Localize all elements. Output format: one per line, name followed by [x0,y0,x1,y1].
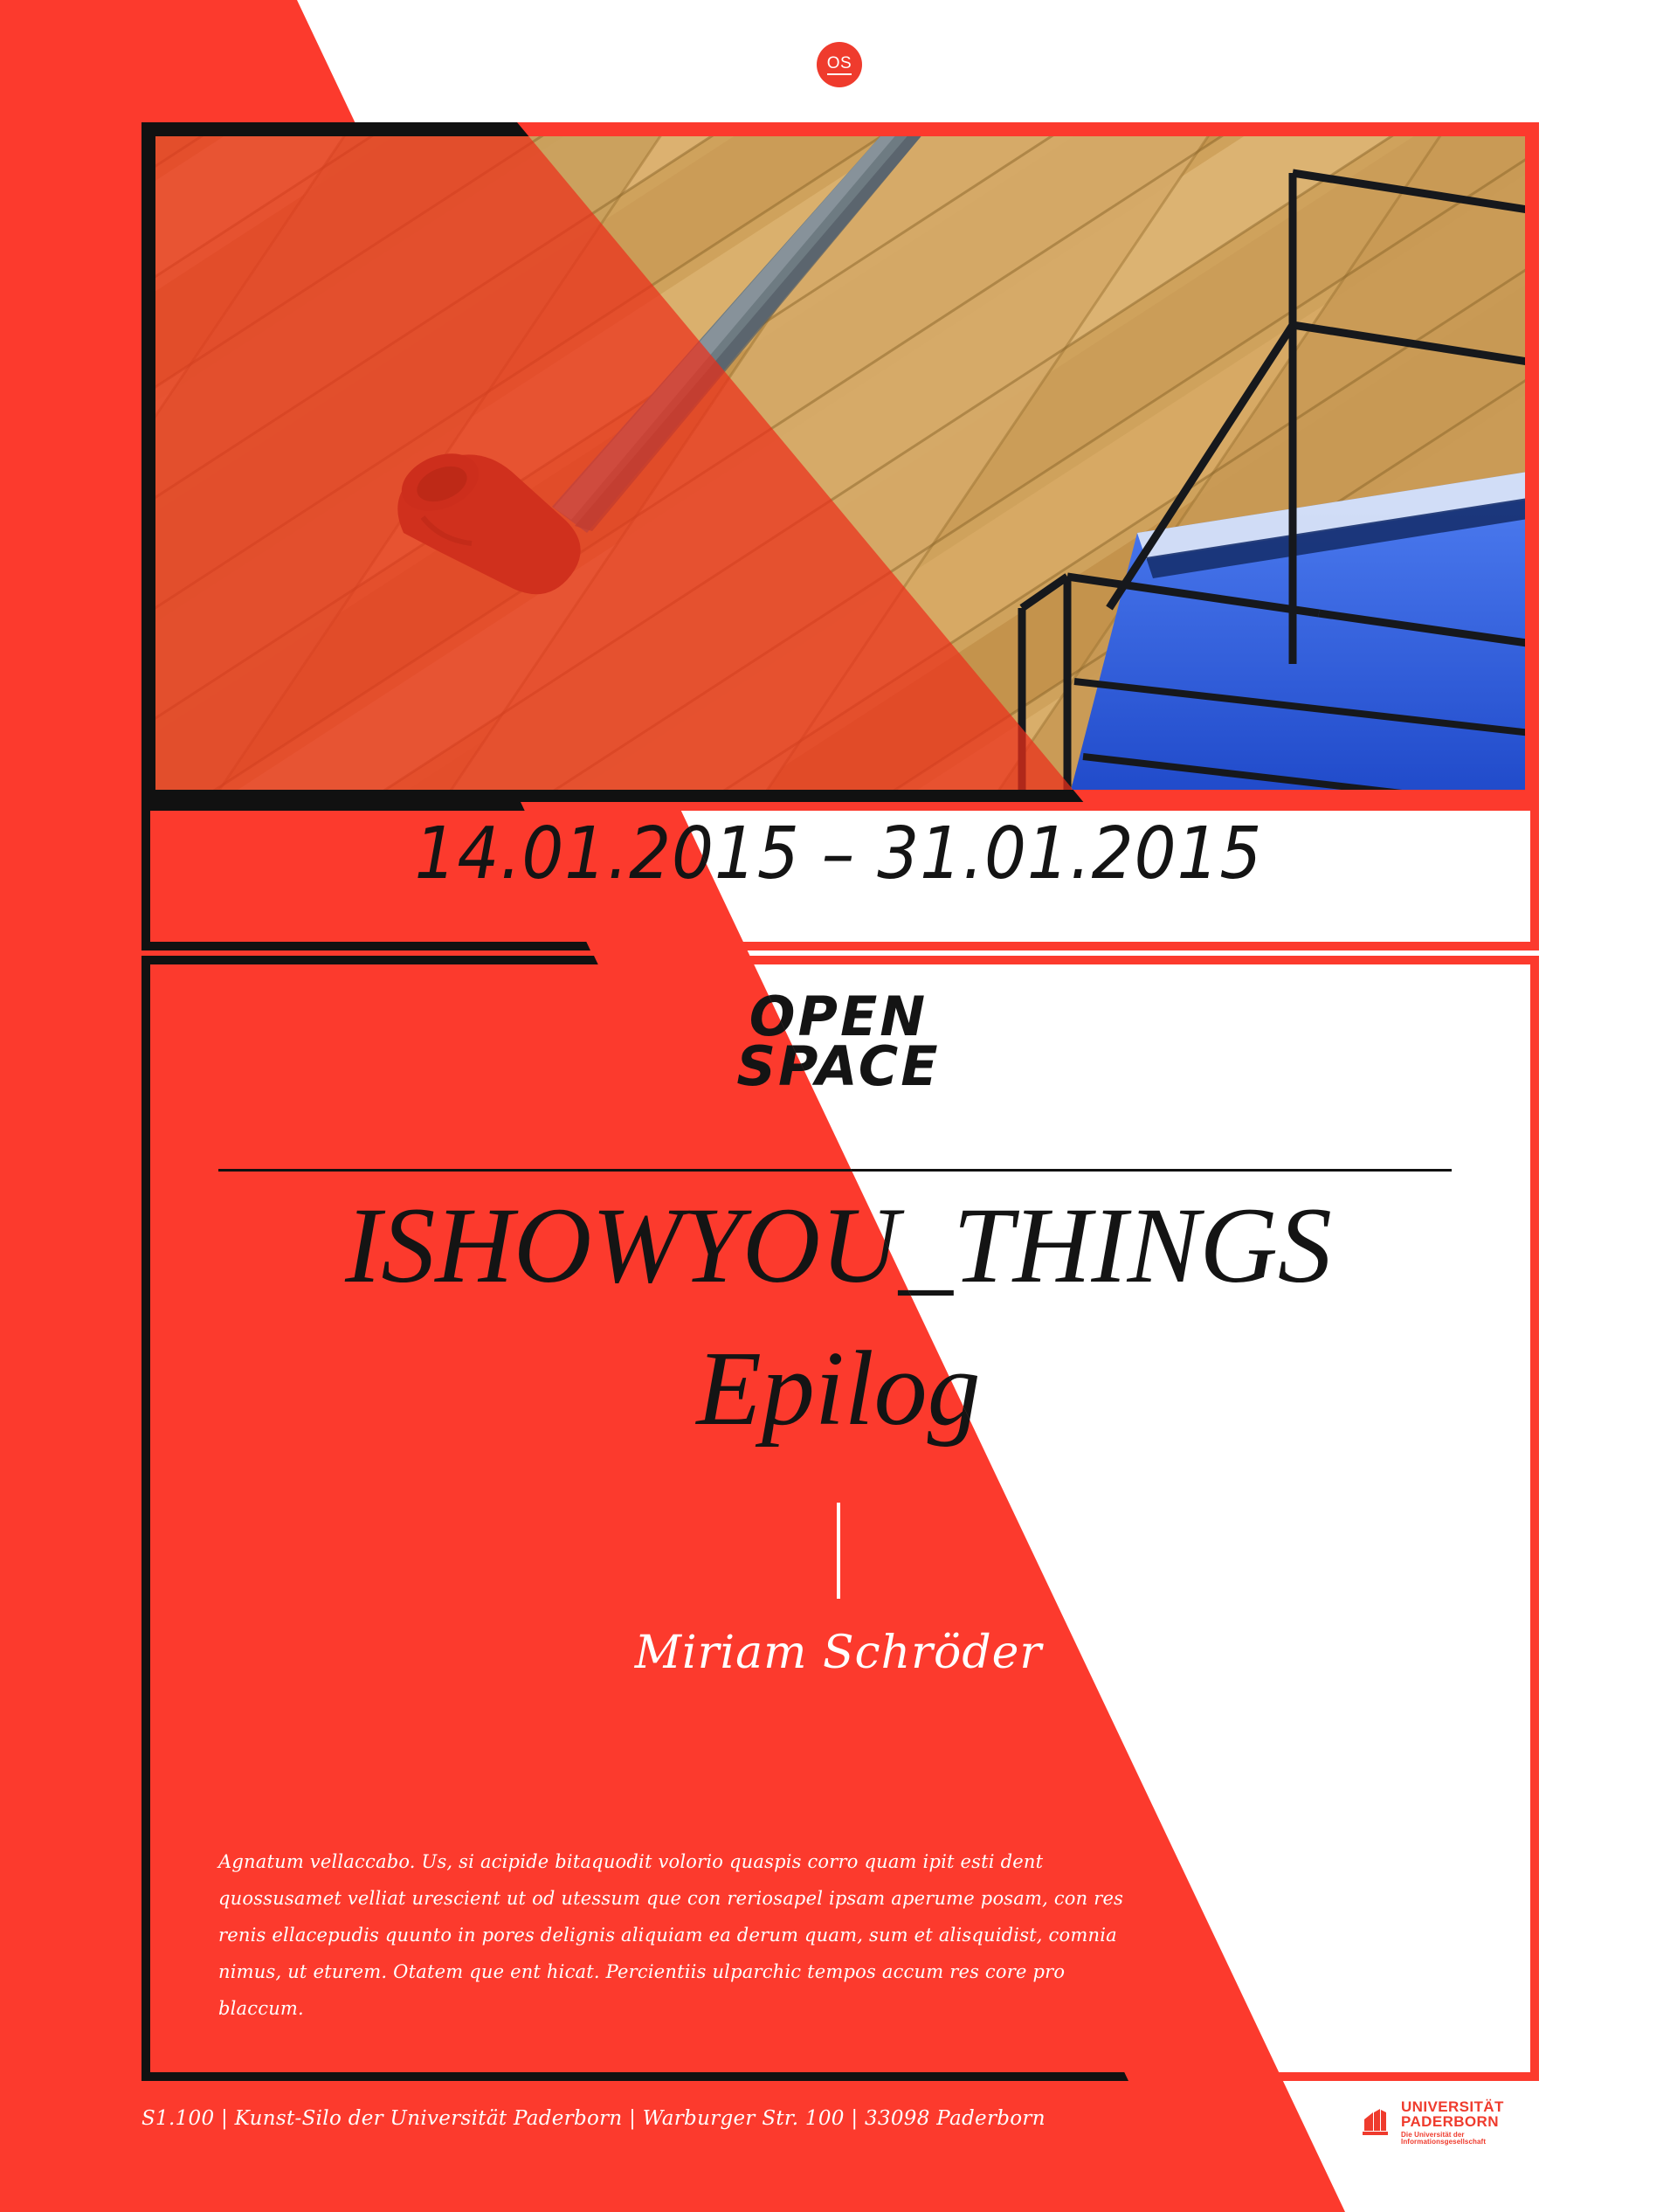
hero-photo [141,122,1539,804]
university-logo: UNIVERSITÄT PADERBORN Die Universität de… [1359,2095,1542,2149]
university-tagline: Die Universität der Informationsgesellsc… [1401,2132,1542,2146]
open-space-badge: OS [817,42,862,87]
content-panel [141,956,1539,2081]
date-panel [141,802,1539,950]
university-name: UNIVERSITÄT PADERBORN [1401,2099,1542,2129]
university-mark-icon [1359,2105,1394,2139]
poster-canvas: OS [0,0,1677,2212]
open-space-badge-label: OS [827,55,852,75]
